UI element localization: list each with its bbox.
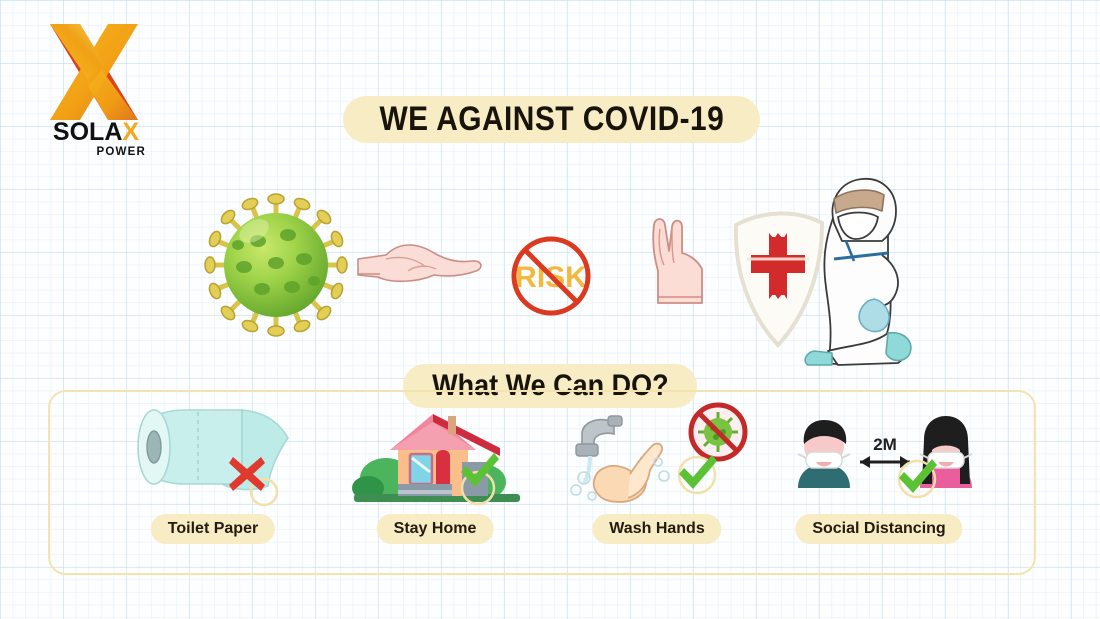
green-check-mark-icon	[674, 450, 720, 496]
washing-hands-faucet-icon	[546, 400, 768, 508]
tip-label-social-distancing: Social Distancing	[795, 514, 962, 544]
tip-label-toilet-paper: Toilet Paper	[151, 514, 275, 544]
brand-name-accent: X	[122, 118, 139, 146]
red-cross-mark-icon	[224, 450, 270, 496]
distance-label: 2M	[873, 435, 897, 454]
hero-illustration-row: RISK	[0, 155, 1100, 370]
tip-card-wash-hands[interactable]: Wash Hands	[546, 392, 768, 577]
green-check-mark-icon	[456, 448, 502, 494]
stop-hand-icon	[636, 207, 726, 317]
no-risk-prohibition-icon: RISK	[505, 230, 597, 322]
brand-name: SOLA	[53, 118, 122, 146]
brand-wordmark: SOLAX	[44, 120, 148, 145]
tips-panel: Toilet Paper	[48, 390, 1036, 575]
poster-canvas: SOLAX POWER WE AGAINST COVID-19	[0, 0, 1100, 619]
tip-label-stay-home: Stay Home	[377, 514, 494, 544]
toilet-paper-roll-icon	[102, 400, 324, 508]
two-people-distance-icon: 2M	[768, 400, 990, 508]
medical-worker-shield-icon	[722, 155, 922, 370]
tip-card-toilet-paper[interactable]: Toilet Paper	[102, 392, 324, 577]
open-palm-hand-icon	[356, 231, 486, 301]
tip-card-social-distancing[interactable]: 2M Social Dis	[768, 392, 990, 577]
tip-label-wash-hands: Wash Hands	[592, 514, 721, 544]
brand-logo[interactable]: SOLAX POWER	[36, 22, 152, 158]
page-title: WE AGAINST COVID-19	[343, 96, 760, 143]
house-home-icon	[324, 400, 546, 508]
green-check-mark-icon	[894, 454, 940, 500]
page-title-text: WE AGAINST COVID-19	[379, 100, 724, 139]
solax-x-logo-icon	[44, 22, 144, 122]
tip-card-stay-home[interactable]: Stay Home	[324, 392, 546, 577]
coronavirus-icon	[196, 185, 356, 345]
